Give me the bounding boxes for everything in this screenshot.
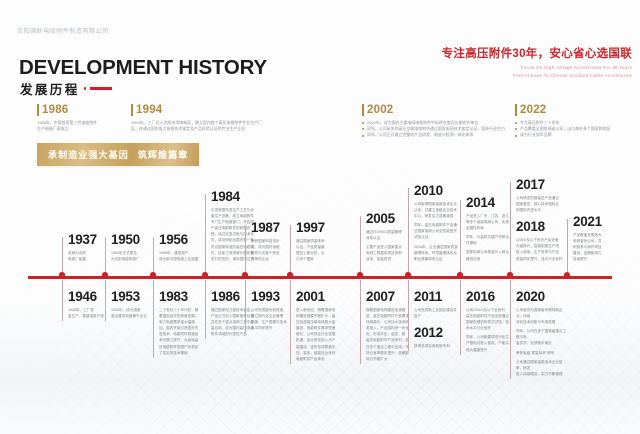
milestone-card-year: 2022	[515, 104, 640, 116]
timeline-description-line: 格供应商	[466, 256, 514, 262]
timeline-description-line: 重点建设电缆骨干企业	[111, 313, 155, 319]
timeline-node-content: 19561956年，建成投产，成为新中国电缆工业摇篮	[159, 233, 203, 262]
timeline-node-content: 2016公司220kV及以下全系列高压电缆附件产品全部通过国家权威机构型式试验，…	[466, 290, 514, 353]
timeline-year-label: 2017	[516, 178, 566, 192]
timeline-description-line: 同年，公司在多个国家级重点工程中批	[516, 328, 568, 340]
timeline-year-label: 2011	[414, 290, 458, 304]
milestone-card-year: 1994	[131, 104, 361, 116]
timeline-description: 1953年，成为国家重点建设电缆骨干企业	[111, 307, 155, 319]
timeline-description-line: 公司通过国家高新技术企业复审，研发	[516, 359, 568, 371]
timeline-description-line: 响力不断扩大	[366, 356, 412, 362]
page-title-chinese: 发展历程	[20, 79, 80, 98]
timeline-stem	[360, 280, 361, 364]
timeline-node-content: 2010公司取得国家高新技术企业认定，并建立省级企业技术中心，研发实力显著增强同…	[414, 184, 462, 262]
timeline-description-line: 投入使用，生产效率与产品	[516, 249, 566, 255]
timeline-description-line: 压电缆附件的国产化奠定	[159, 344, 205, 350]
timeline-description-line: 公司被评为国家级专精特新企业，持续	[516, 307, 568, 319]
milestone-card-1994: 19941994年，工厂迁入沈阳市浑南新区，建立国内首个高压电缆附件专业生产厂区…	[131, 104, 361, 132]
slogan-chinese: 专注高压附件30年，安心省心选国联	[442, 45, 632, 61]
timeline-stem	[460, 200, 461, 276]
timeline-description-line: 投入持续增加，实力不断增强	[516, 371, 568, 377]
timeline-stem	[105, 237, 106, 276]
timeline-year-label: 2016	[466, 290, 514, 304]
timeline-description-line: 成为新中国电缆工业摇篮	[159, 256, 203, 262]
slogan-block: 专注高压附件30年，安心省心选国联 Focus On High voltage …	[442, 45, 632, 80]
timeline-year-label: 1984	[211, 190, 261, 204]
slogan-english-line-2: Feel At Ease To Choose Guoliant Cable Ac…	[442, 72, 632, 80]
timeline-node-content: 19531953年，成为国家重点建设电缆骨干企业	[111, 290, 155, 319]
timeline-node-content: 1987荣获国家科技进步奖，成为国内电缆附件行业首个获此殊荣的企业	[251, 221, 291, 262]
timeline-description: 公司完成新工业园区建设并投产	[414, 307, 458, 319]
timeline-description-line: 术也随之提升，为后续高	[159, 337, 205, 343]
milestone-card-2022: 2022专注高压附件三十余年产品覆盖全国各网省公司，出口海外多个国家和地区成为行…	[515, 104, 640, 139]
timeline-stem	[205, 280, 206, 339]
timeline-node-content: 2020公司被评为国家级专精特新企业，持续深化技术创新与市场拓展同年，公司在多个…	[516, 290, 568, 377]
timeline-stem	[567, 219, 568, 276]
timeline-description-line: 2010年，企业通过国家质量	[414, 244, 462, 250]
timeline-description-line: 水平同步提升	[251, 325, 295, 331]
timeline-description-line: 电缆附件产品体系	[296, 356, 342, 362]
timeline-node-content: 2017公司研发的超高压产品通过国家鉴定，核心技术指标达到国际先进水平20182…	[516, 178, 566, 262]
timeline-node-content: 1937前身为沈阳电缆厂始建	[68, 233, 108, 262]
timeline-node-content: 2014产品进入广东、江苏、浙江等多个省级电网公司，实现全国性布局同年，与高校共…	[466, 196, 514, 262]
timeline-description-line: 职业健康体系认证	[414, 256, 462, 262]
gold-banner-left-text: 承制造业强大基因	[48, 150, 129, 160]
timeline-node-content: 2021产品覆盖全国各大电网省份公司，并积极参与海外项目建设，品牌影响力持续提升	[573, 215, 619, 262]
timeline-year-label: 2005	[366, 212, 414, 226]
timeline-node-content: 2005通过ISO9001质量管理体系认证主要产品进入国家重点电网工程建设项目采…	[366, 212, 414, 262]
timeline-stem	[290, 280, 291, 364]
timeline-year-label: 1953	[111, 290, 155, 304]
timeline-year-label: 1937	[68, 233, 108, 247]
timeline-year-label: 1956	[159, 233, 203, 247]
timeline-year-label: 2020	[516, 290, 568, 304]
timeline-stem	[360, 216, 361, 276]
timeline-description-line: 为沈阳电缆制造厂	[111, 256, 155, 262]
timeline-description-line: 持续提升	[573, 256, 619, 262]
title-dot-marker	[84, 87, 87, 90]
timeline-stem	[460, 280, 461, 355]
timeline-description-line: 产基地并投入使用，产能实	[466, 340, 514, 346]
timeline-description-line: 能建设，逐步形成覆盖中	[296, 344, 342, 350]
timeline-year-label: 2021	[573, 215, 619, 229]
timeline-description: 公司220kV及以下全系列高压电缆附件产品全部通过国家权威机构型式试验，技术水平…	[466, 307, 514, 353]
timeline-description-line: 现大幅度提升	[466, 347, 514, 353]
timeline-description-line: 殊荣的企业	[251, 256, 291, 262]
timeline-description-line: 到国际先进水平	[516, 207, 566, 213]
milestone-card-row: 19861986年，中国首家第三代电缆附件生产制造厂家成立19941994年，工…	[0, 104, 640, 140]
timeline-stem	[408, 280, 409, 351]
timeline-year-label: 2010	[414, 184, 462, 198]
company-name: 沈阳国联电缆附件制造有限公司	[17, 26, 109, 35]
gold-banner: 承制造业强大基因筑辉煌篇章	[37, 143, 199, 166]
milestone-card-body: 专注高压附件三十余年产品覆盖全国各网省公司，出口海外多个国家和地区成为行业领军品…	[515, 120, 640, 139]
timeline-description-line: 附件领域的代表性产品	[211, 331, 257, 337]
timeline-stem	[105, 280, 106, 321]
timeline-stem	[510, 182, 511, 276]
timeline-stem	[510, 280, 511, 379]
timeline-year-label: 1997	[296, 221, 338, 235]
timeline-description: 产品进入广东、江苏、浙江等多个省级电网公司，实现全国性布局同年，与高校共建产学研…	[466, 213, 514, 262]
timeline-stem	[62, 280, 63, 321]
timeline-node-content: 1997通过国家质量体系认证，产品质量管理迈上新台阶，出口多个国家	[296, 221, 338, 262]
timeline-description-line: 质量同步提升，成为行业标杆	[516, 256, 566, 262]
timeline-description: 公司完成股份制改造，建立现代化企业管理制度，生产规模与技术水平同步提升	[251, 307, 295, 331]
timeline-stem	[153, 280, 154, 358]
slide-canvas: 沈阳国联电缆附件制造有限公司 DEVELOPMENT HISTORY 发展历程 …	[0, 0, 640, 434]
milestone-card-line: 成为行业领军品牌	[515, 132, 640, 138]
timeline-node-content: 19501950年正式更名为沈阳电缆制造厂	[111, 233, 155, 262]
timeline-year-label: 1983	[159, 290, 205, 304]
timeline-description-line: 国家电网公司核准为入网合	[466, 249, 514, 255]
timeline-description: 产品覆盖全国各大电网省份公司，并积极参与海外项目建设，品牌影响力持续提升	[573, 232, 619, 262]
timeline-description-line: 电缆厂始建	[68, 256, 108, 262]
timeline-node-content: 1983二十世纪八十年代初，随着国民经济的快速发展，电力电缆需求量大幅增加，国内…	[159, 290, 205, 356]
timeline-description-line: 获得多项实用新型专利	[414, 343, 458, 349]
timeline-description: 1950年正式更名为沈阳电缆制造厂	[111, 250, 155, 262]
timeline-description-line: 高压电缆附件产品序列，并	[366, 337, 412, 343]
timeline-stem	[245, 280, 246, 333]
timeline-description: 通过国家质量体系认证，产品质量管理迈上新台阶，出口多个国家	[296, 238, 338, 262]
timeline-stem	[290, 225, 291, 276]
timeline-year-label: 1950	[111, 233, 155, 247]
timeline-year-label: 1987	[251, 221, 291, 235]
timeline-description: 通过ISO9001质量管理体系认证主要产品进入国家重点电网工程建设项目采购目录，…	[366, 229, 414, 262]
timeline-description-line: 在多个重点工程中应用，市	[366, 344, 412, 350]
timeline-stem	[245, 225, 246, 276]
timeline-description: 前身为沈阳电缆厂始建	[68, 250, 108, 262]
timeline-stem	[205, 194, 206, 276]
timeline-description: 获得多项实用新型专利	[414, 343, 458, 349]
timeline-description-line: 管理体系、环境管理体系及	[414, 250, 462, 256]
timeline-year-label: 1993	[251, 290, 295, 304]
slogan-english-line-1: Focus On High voltage Accessories For 30…	[442, 64, 632, 72]
timeline-description: 荣获国家科技进步奖，成为国内电缆附件行业首个获此殊荣的企业	[251, 238, 291, 262]
timeline-stem	[62, 237, 63, 276]
timeline-description: 220kV及以下系列产品全面升级换代，智能制造生产线投入使用，生产效率与产品质量…	[516, 237, 566, 261]
timeline-description-line: 了坚实的技术基础	[159, 350, 205, 356]
timeline-description: 1956年，建成投产，成为新中国电缆工业摇篮	[159, 250, 203, 262]
timeline-description-line: 场占有率稳步提升，品牌影	[366, 350, 412, 356]
timeline-axis	[28, 276, 612, 279]
timeline-description: 二十世纪八十年代初，随着国民经济的快速发展，电力电缆需求量大幅增加，国内开始引进…	[159, 307, 205, 356]
timeline-node-content: 2001进入新世纪，随着国家电网建设规模不断扩大，高压及超高压输电线路大量建设，…	[296, 290, 342, 362]
timeline-description: 公司取得国家高新技术企业认定，并建立省级企业技术中心，研发实力显著增强同年，高压…	[414, 201, 462, 262]
milestone-card-line: 区，并通过国内电力系统技术鉴定及产品检验认证的专业生产企业	[131, 126, 361, 132]
milestone-card-body: 1994年，工厂迁入沈阳市浑南新区，建立国内首个高压电缆附件专业生产厂区，并通过…	[131, 120, 361, 133]
timeline-description: 随着国家电网建设加速推进，高压电缆附件产品需求持续增长，公司加大技术研发投入，产…	[366, 307, 412, 362]
timeline-node-content: 2011公司完成新工业园区建设并投产2012获得多项实用新型专利	[414, 290, 458, 349]
timeline-stem	[153, 237, 154, 276]
timeline-stem	[408, 188, 409, 276]
timeline-node-content: 2007随着国家电网建设加速推进，高压电缆附件产品需求持续增长，公司加大技术研发…	[366, 290, 412, 362]
timeline-year-label: 2012	[414, 326, 458, 340]
timeline-description: 公司被评为国家级专精特新企业，持续深化技术创新与市场拓展同年，公司在多个国家级重…	[516, 307, 568, 377]
title-dash-marker	[90, 87, 112, 90]
timeline-description-line: 目录，批量供货	[366, 256, 414, 262]
timeline-year-label: 2001	[296, 290, 342, 304]
timeline-description-line: 口多个国家	[296, 256, 338, 262]
timeline-description: 公司研发的超高压产品通过国家鉴定，核心技术指标达到国际先进水平	[516, 195, 566, 213]
gold-banner-right-text: 筑辉煌篇章	[138, 150, 189, 160]
page-title-english: DEVELOPMENT HISTORY	[19, 56, 267, 80]
timeline-node-content: 1993公司完成股份制改造，建立现代化企业管理制度，生产规模与技术水平同步提升	[251, 290, 295, 331]
timeline-description-line: 压、高压、超高压全系列	[296, 350, 342, 356]
timeline-description-line: 公司完成新工业园区建设并投产	[414, 307, 458, 319]
timeline-year-label: 2018	[516, 220, 566, 234]
timeline-description-line: 机遇，加大研发投入与产	[296, 337, 342, 343]
timeline-year-label: 2014	[466, 196, 514, 210]
timeline-year-label: 2007	[366, 290, 412, 304]
timeline-description: 进入新世纪，随着国家电网建设规模不断扩大，高压及超高压输电线路大量建设，电缆附件…	[296, 307, 342, 362]
slogan-english: Focus On High voltage Accessories For 30…	[442, 64, 632, 80]
page-title-chinese-group: 发展历程	[20, 79, 112, 98]
